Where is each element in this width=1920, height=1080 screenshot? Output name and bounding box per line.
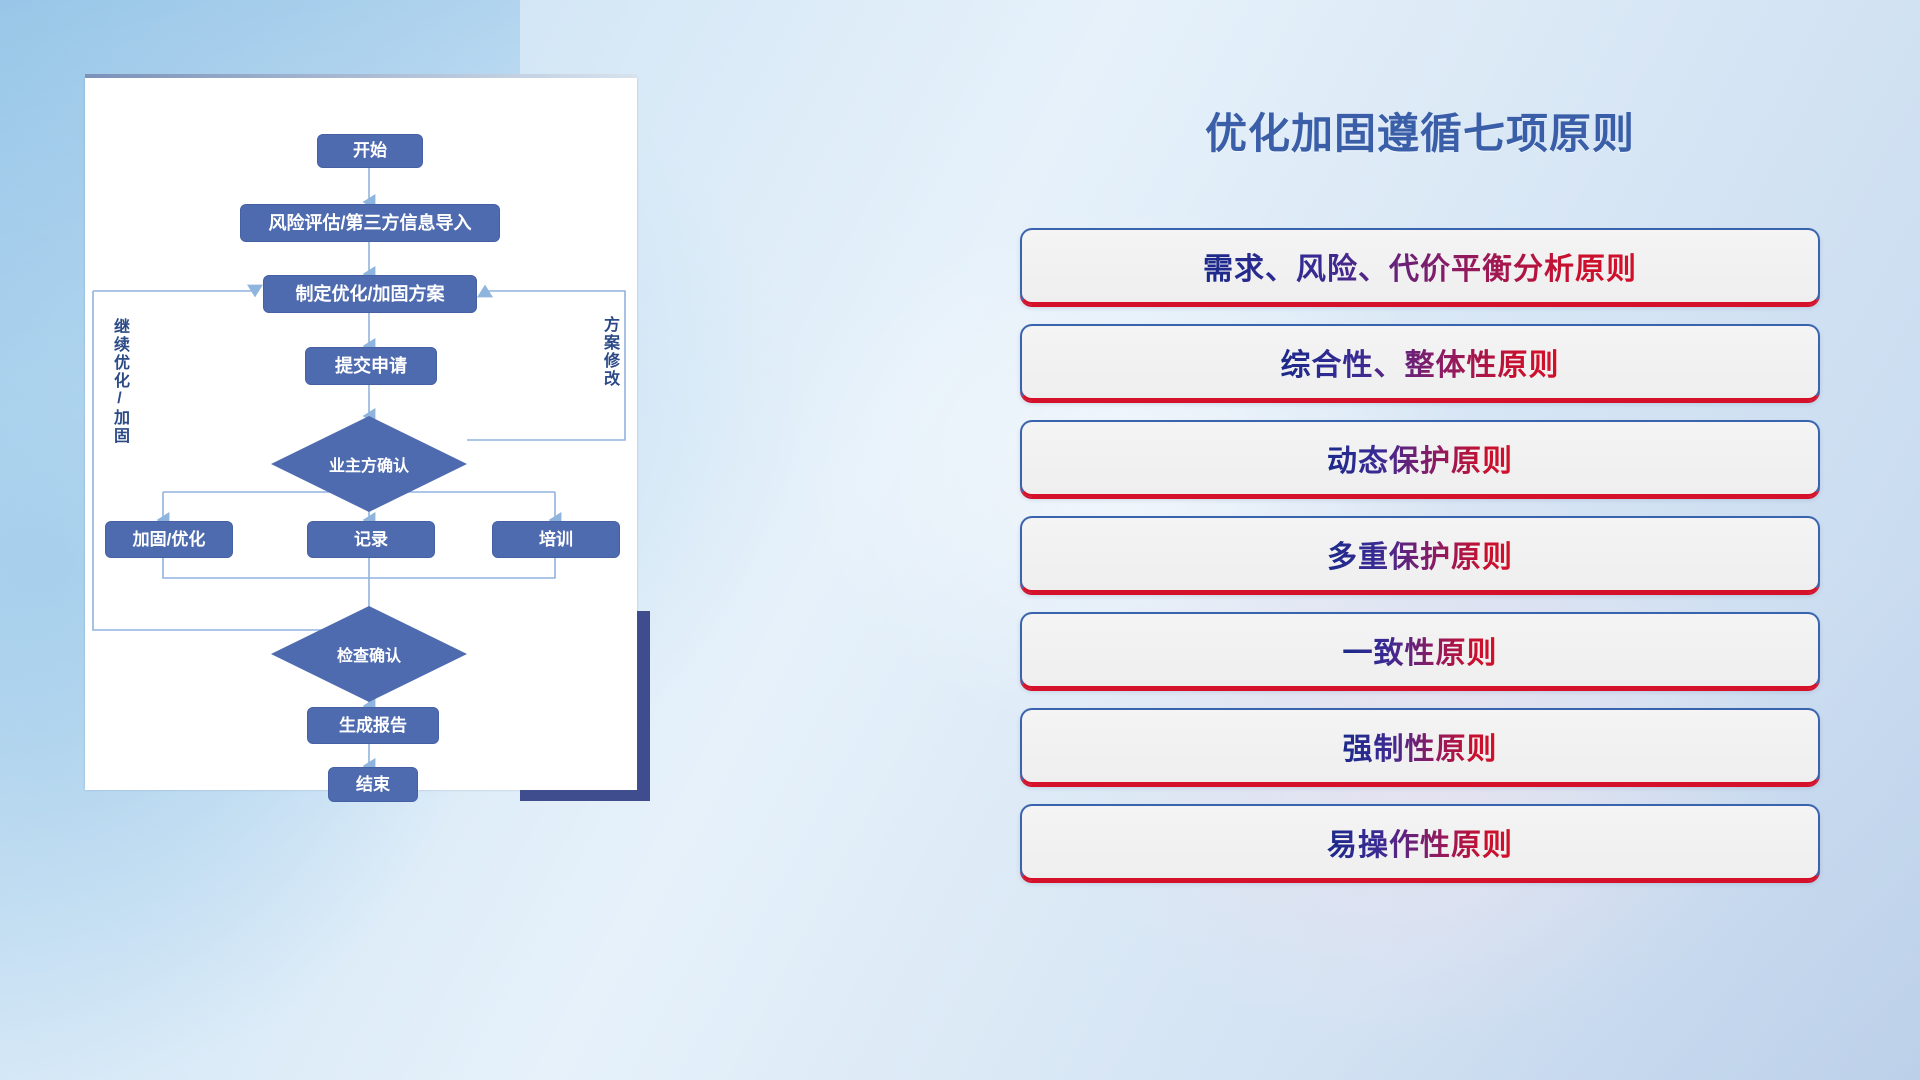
flow-node-label: 开始 [353, 141, 387, 161]
flow-node-label: 培训 [539, 530, 573, 550]
flow-edge-label-continue-optimize: 继续优化/加固 [107, 318, 131, 445]
principle-card-2[interactable]: 综合性、整体性原则 [1020, 324, 1820, 401]
principle-card-5[interactable]: 一致性原则 [1020, 612, 1820, 689]
principle-label: 综合性、整体性原则 [1281, 340, 1560, 384]
principle-label: 需求、风险、代价平衡分析原则 [1203, 244, 1637, 288]
flow-node-record[interactable]: 记录 [307, 521, 435, 558]
flow-node-label: 制定优化/加固方案 [295, 284, 444, 305]
principle-label: 强制性原则 [1343, 724, 1498, 768]
flow-node-owner-confirm[interactable]: 业主方确认 [271, 416, 467, 512]
flow-node-generate-report[interactable]: 生成报告 [307, 707, 439, 744]
flow-node-label: 生成报告 [339, 716, 407, 736]
flow-node-label: 风险评估/第三方信息导入 [269, 213, 472, 234]
flow-node-start[interactable]: 开始 [317, 134, 423, 168]
flow-node-training[interactable]: 培训 [492, 521, 620, 558]
principle-label: 多重保护原则 [1327, 532, 1513, 576]
principle-card-7[interactable]: 易操作性原则 [1020, 804, 1820, 881]
principles-list: 需求、风险、代价平衡分析原则 综合性、整体性原则 动态保护原则 多重保护原则 一… [1020, 228, 1820, 900]
flow-node-label: 加固/优化 [133, 530, 206, 550]
principles-panel: 优化加固遵循七项原则 需求、风险、代价平衡分析原则 综合性、整体性原则 动态保护… [1020, 80, 1840, 1000]
flow-edge-label-plan-revision: 方案修改 [597, 316, 621, 388]
principle-label: 动态保护原则 [1327, 436, 1513, 480]
principle-card-3[interactable]: 动态保护原则 [1020, 420, 1820, 497]
flow-node-check-confirm[interactable]: 检查确认 [271, 606, 467, 702]
flow-node-label: 提交申请 [335, 356, 407, 377]
flow-node-label: 结束 [356, 775, 390, 795]
panel-title: 优化加固遵循七项原则 [1020, 100, 1820, 161]
flow-node-reinforce[interactable]: 加固/优化 [105, 521, 233, 558]
principle-label: 易操作性原则 [1327, 820, 1513, 864]
flow-node-risk-assessment[interactable]: 风险评估/第三方信息导入 [240, 204, 500, 242]
principle-label: 一致性原则 [1343, 628, 1498, 672]
principle-card-4[interactable]: 多重保护原则 [1020, 516, 1820, 593]
flow-node-end[interactable]: 结束 [328, 767, 418, 802]
flow-node-submit-application[interactable]: 提交申请 [305, 347, 437, 385]
flow-node-label: 记录 [354, 530, 388, 550]
principle-card-1[interactable]: 需求、风险、代价平衡分析原则 [1020, 228, 1820, 305]
principle-card-6[interactable]: 强制性原则 [1020, 708, 1820, 785]
flowchart-panel: 开始 风险评估/第三方信息导入 制定优化/加固方案 提交申请 业主方确认 加固/… [85, 78, 645, 793]
flow-node-label: 业主方确认 [271, 416, 467, 512]
flow-node-plan[interactable]: 制定优化/加固方案 [263, 275, 477, 313]
flow-node-label: 检查确认 [271, 606, 467, 702]
